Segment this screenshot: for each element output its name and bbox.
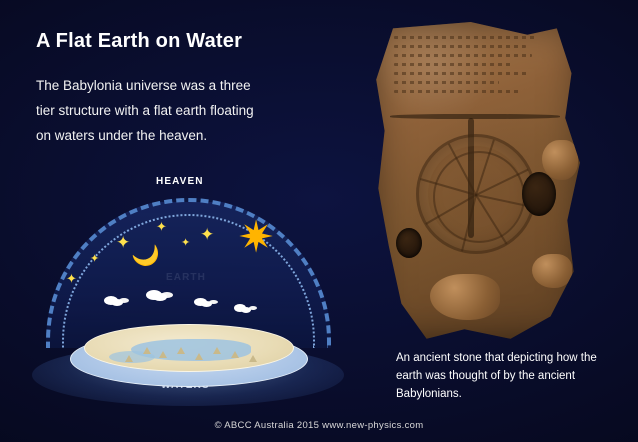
mountain-icon — [249, 355, 257, 362]
tablet-damage-hole — [522, 172, 556, 216]
cloud-icon — [104, 296, 118, 305]
flat-earth-diagram: HEAVEN EARTH WATERS ✦ ✦ ✦ ✦ ✦ ✦ 🌙 ✷ — [18, 168, 358, 423]
mountain-icon — [231, 351, 239, 358]
artifact-photo — [372, 22, 582, 342]
photo-caption: An ancient stone that depicting how the … — [396, 350, 622, 403]
star-icon: ✦ — [90, 254, 99, 265]
mountain-icon — [177, 347, 185, 354]
cloud-icon — [194, 298, 207, 306]
cloud-icon — [146, 290, 162, 300]
star-icon: ✦ — [66, 272, 77, 285]
cloud-icon — [234, 304, 246, 312]
mountain-icon — [213, 347, 221, 354]
earth-disk — [84, 324, 294, 372]
mountain-icon — [143, 347, 151, 354]
mountain-icon — [125, 355, 133, 362]
star-icon: ✦ — [181, 238, 190, 249]
world-map-carving — [416, 134, 536, 254]
tablet-chip — [430, 274, 500, 320]
mountain-icon — [195, 353, 203, 360]
star-icon: ✦ — [156, 220, 167, 233]
diagram-label-heaven: HEAVEN — [156, 176, 204, 187]
page-title: A Flat Earth on Water — [36, 30, 242, 53]
slide-canvas: A Flat Earth on Water The Babylonia univ… — [0, 0, 638, 442]
tablet-damage-hole — [396, 228, 422, 258]
footer-credit: © ABCC Australia 2015 www.new-physics.co… — [0, 420, 638, 431]
body-paragraph: The Babylonia universe was a three tier … — [36, 74, 266, 149]
cuneiform-text-block — [394, 36, 544, 108]
sun-icon: ✷ — [236, 218, 276, 258]
star-icon: ✦ — [200, 226, 214, 243]
tablet-crack — [390, 114, 560, 119]
tablet-chip — [542, 140, 578, 180]
tablet-chip — [532, 254, 572, 288]
star-icon: ✦ — [116, 234, 130, 251]
mountain-icon — [159, 351, 167, 358]
clay-tablet — [372, 22, 582, 342]
